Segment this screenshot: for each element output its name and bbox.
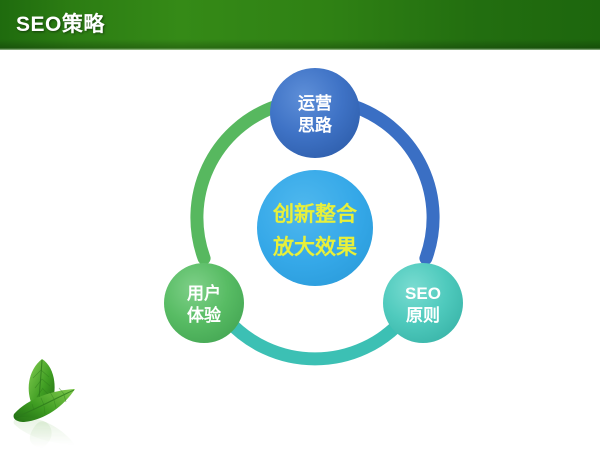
cycle-diagram: 创新整合 放大效果 运营 思路 用户 体验 SEO 原则 — [150, 58, 480, 378]
leaf-reflection — [14, 417, 75, 448]
node-operation-line2: 思路 — [298, 115, 333, 135]
node-user-experience-line1: 用户 — [187, 283, 221, 303]
center-label-line1: 创新整合 — [272, 202, 358, 226]
center-node: 创新整合 放大效果 — [257, 170, 373, 286]
node-operation[interactable]: 运营 思路 — [270, 68, 360, 158]
node-user-experience-line2: 体验 — [187, 305, 222, 325]
arc-bottom — [228, 320, 403, 359]
slide-header-band: SEO策略 — [0, 0, 600, 50]
center-label-line2: 放大效果 — [272, 235, 357, 259]
slide-canvas: SEO策略 — [0, 0, 600, 450]
node-seo-principles-line2: 原则 — [406, 305, 440, 325]
page-title: SEO策略 — [16, 13, 105, 37]
node-seo-principles-line1: SEO — [405, 284, 441, 303]
node-operation-line1: 运营 — [298, 93, 332, 113]
leaf-decoration — [2, 348, 122, 448]
node-user-experience[interactable]: 用户 体验 — [164, 263, 244, 343]
node-seo-principles[interactable]: SEO 原则 — [383, 263, 463, 343]
